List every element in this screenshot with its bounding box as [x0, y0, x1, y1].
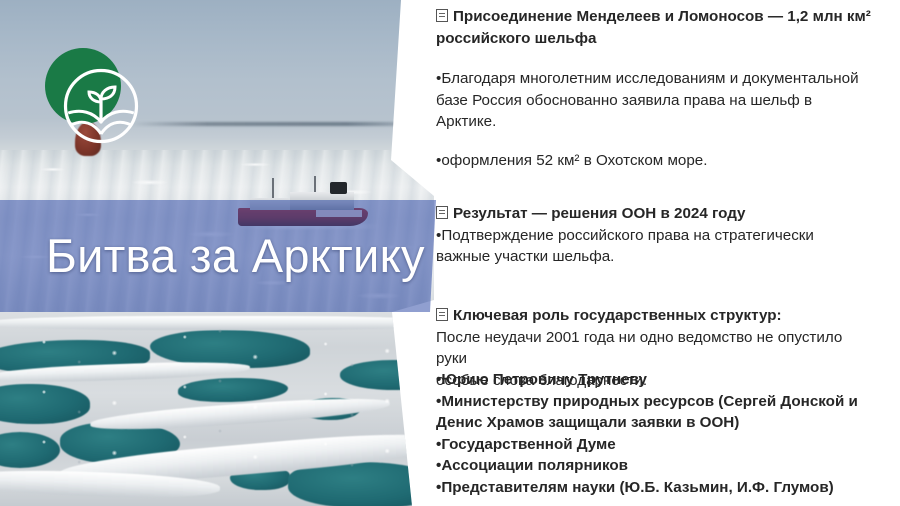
block-research-base: •Благодаря многолетним исследованиям и д…	[436, 68, 876, 133]
list-item: •Государственной Думе	[436, 434, 876, 456]
ice-rubble	[0, 422, 440, 472]
pack-ice-field	[0, 312, 440, 506]
text-line: После неудачи 2001 года ни одно ведомств…	[436, 327, 876, 370]
page-title: Битва за Арктику	[46, 228, 466, 284]
list-item: •Ассоциации полярников	[436, 455, 876, 477]
ice-rubble	[0, 322, 440, 372]
list-item: •Юрию Петровичу Трутневу	[436, 369, 876, 391]
ship-bridge	[330, 182, 347, 194]
slide-root: Битва за Арктику Присоединени	[0, 0, 900, 506]
slide-body-text: Присоединение Менделеев и Ломоносов — 1,…	[436, 0, 888, 506]
sprout-field-logo	[45, 48, 141, 144]
block-okhotsk: •оформления 52 км² в Охотском море.	[436, 150, 876, 172]
list-item: Денис Храмов защищали заявки в ООН)	[436, 412, 876, 434]
list-item: •Министерству природных ресурсов (Сергей…	[436, 391, 876, 413]
ice-rubble	[0, 372, 440, 422]
text-line: •Подтверждение российского права на стра…	[436, 225, 876, 247]
tofu-glyph-icon	[436, 9, 448, 22]
ship-mast-fore	[272, 178, 274, 200]
text-line: важные участки шельфа.	[436, 246, 876, 268]
list-item: •Представителям науки (Ю.Б. Казьмин, И.Ф…	[436, 477, 876, 499]
distant-shoreline	[130, 122, 440, 126]
text-line: Ключевая роль государственных структур:	[436, 305, 876, 327]
logo-ring	[63, 68, 139, 144]
text-line: •Благодаря многолетним исследованиям и д…	[436, 68, 876, 90]
block-result-un: Результат — решения ООН в 2024 году •Под…	[436, 203, 876, 268]
text-line: Арктике.	[436, 111, 876, 133]
block-shelf-annex: Присоединение Менделеев и Ломоносов — 1,…	[436, 6, 876, 49]
text-line: базе Россия обоснованно заявила права на…	[436, 90, 876, 112]
tofu-glyph-icon	[436, 206, 448, 219]
tofu-glyph-icon	[436, 308, 448, 321]
text-line: Присоединение Менделеев и Ломоносов — 1,…	[436, 6, 876, 28]
text-line: российского шельфа	[436, 28, 876, 50]
text-line: •оформления 52 км² в Охотском море.	[436, 150, 876, 172]
text-line: Результат — решения ООН в 2024 году	[436, 203, 876, 225]
block-thanks-list: •Юрию Петровичу Трутневу •Министерству п…	[436, 369, 876, 498]
sprout-icon	[63, 68, 139, 144]
